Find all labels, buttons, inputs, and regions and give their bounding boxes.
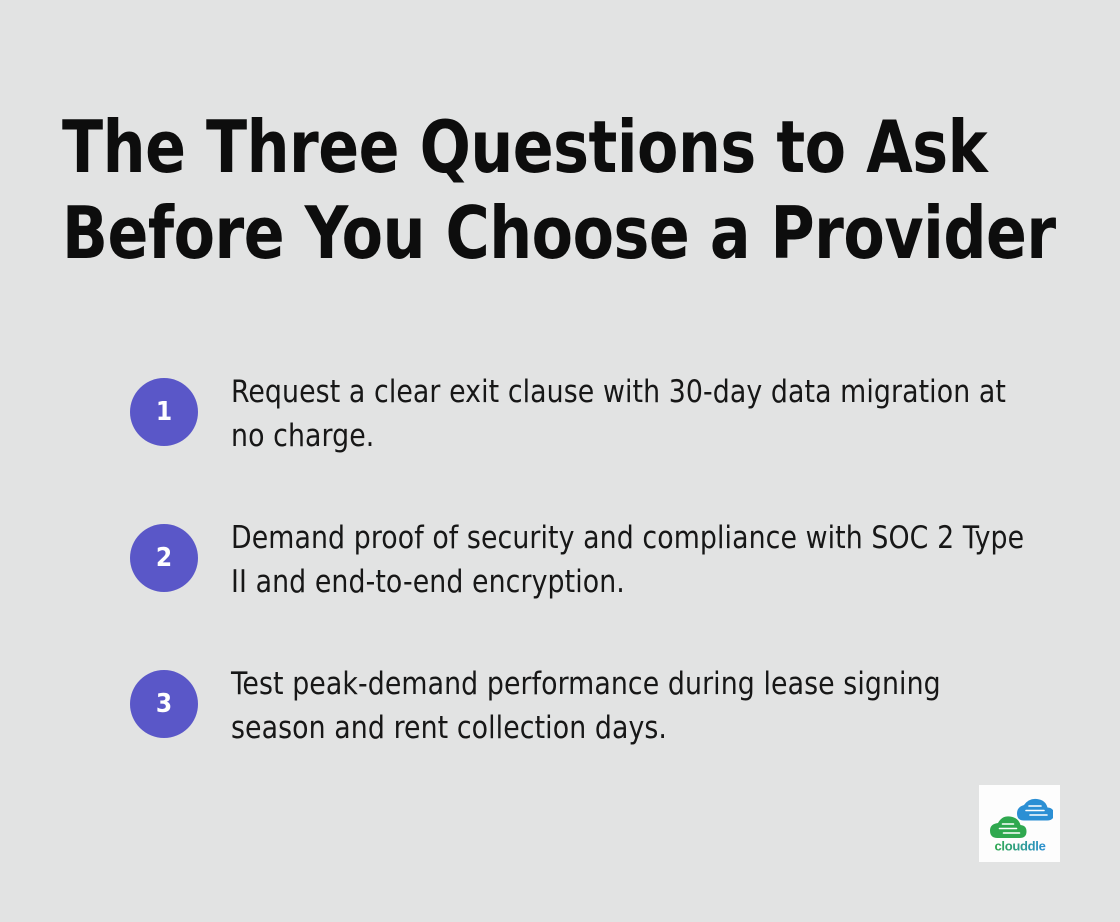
double-cloud-icon: clouddle [987, 794, 1053, 854]
brand-logo: clouddle [979, 785, 1060, 862]
numbered-list: 1 Request a clear exit clause with 30-da… [130, 370, 1060, 750]
list-item-number-badge: 1 [130, 378, 198, 446]
list-item: 2 Demand proof of security and complianc… [130, 516, 1060, 604]
list-item-text: Test peak-demand performance during leas… [231, 662, 1027, 750]
list-item: 3 Test peak-demand performance during le… [130, 662, 1060, 750]
list-item-text: Demand proof of security and compliance … [231, 516, 1027, 604]
page-title-line-2: Before You Choose a Provider [62, 190, 983, 276]
list-item-number-badge: 2 [130, 524, 198, 592]
page-title-line-1: The Three Questions to Ask [62, 104, 983, 190]
logo-wordmark: clouddle [994, 838, 1045, 853]
list-item-text: Request a clear exit clause with 30-day … [231, 370, 1027, 458]
list-item-number-badge: 3 [130, 670, 198, 738]
list-item: 1 Request a clear exit clause with 30-da… [130, 370, 1060, 458]
cloud-back-blue [1017, 798, 1053, 820]
slide-canvas: The Three Questions to Ask Before You Ch… [0, 0, 1120, 922]
page-title: The Three Questions to Ask Before You Ch… [62, 104, 1052, 276]
